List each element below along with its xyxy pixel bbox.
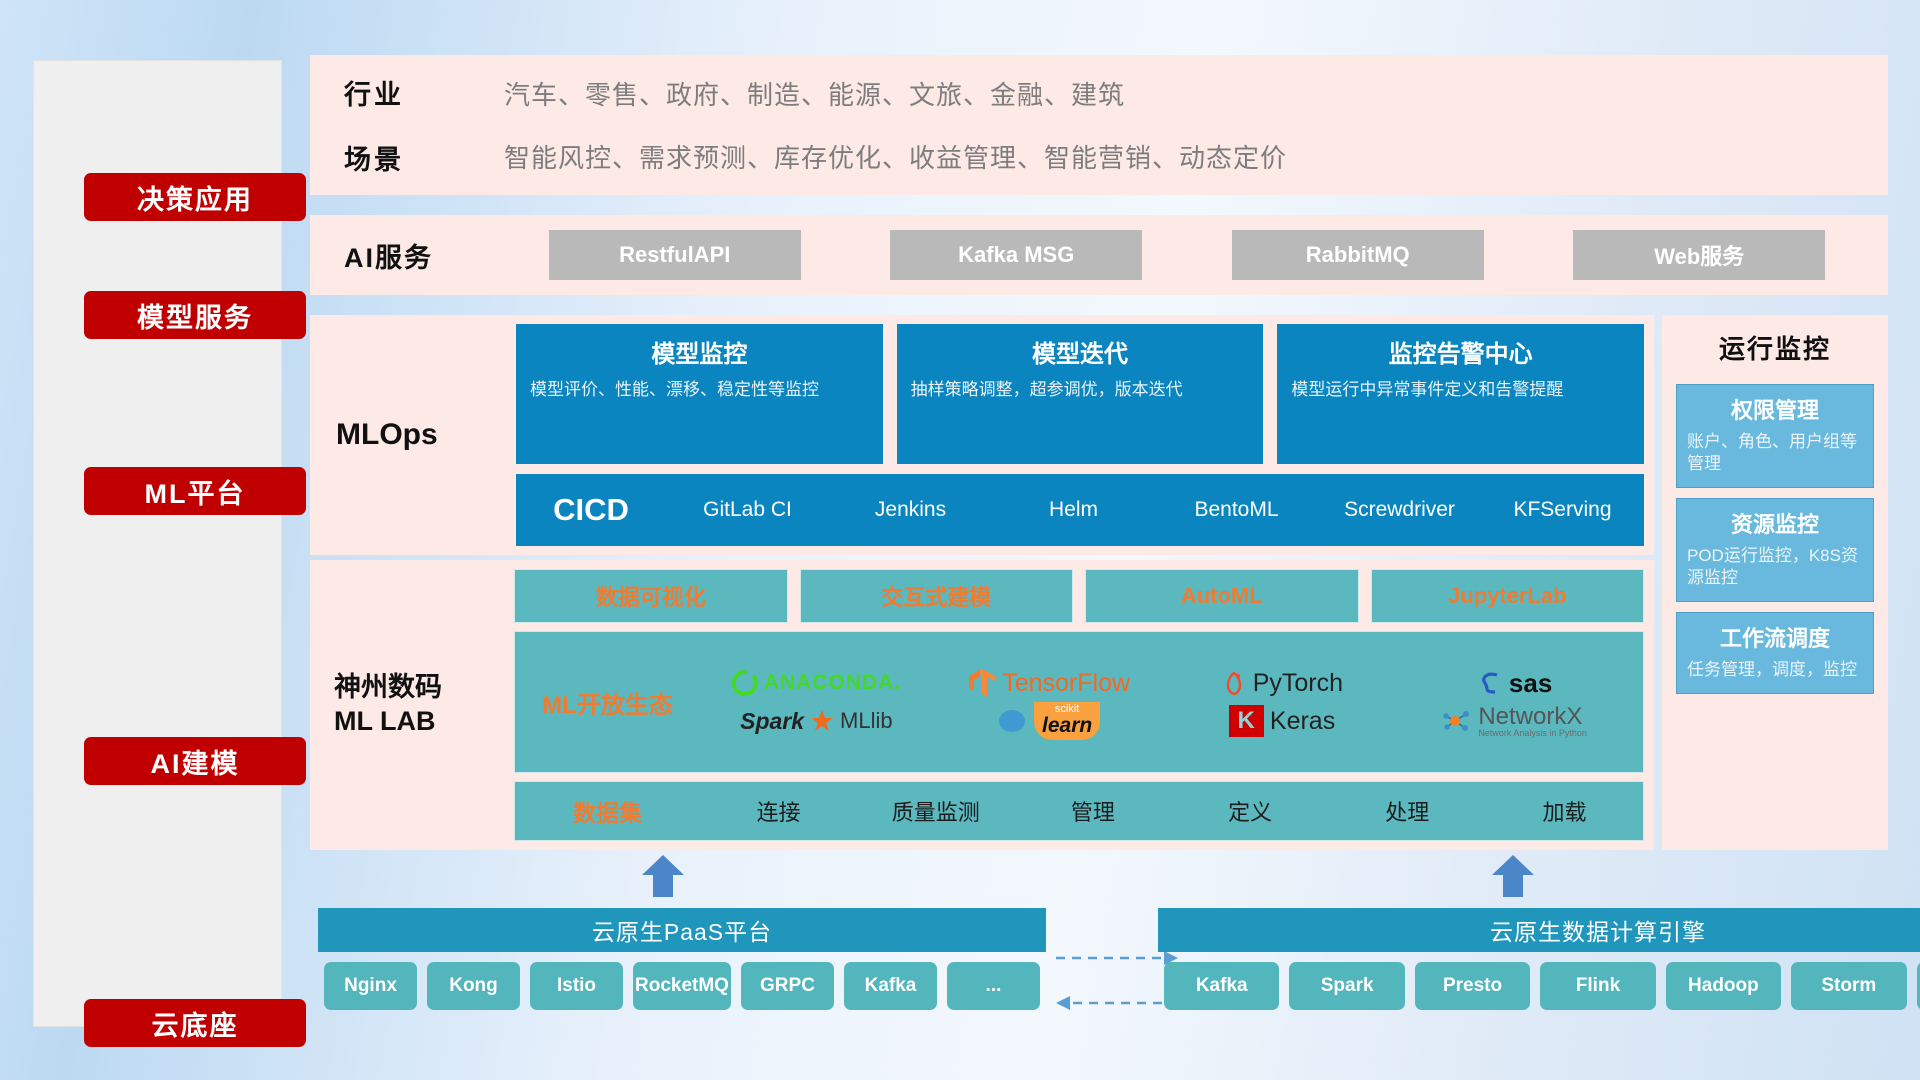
- scikit-learn-logo: scikit learn: [998, 702, 1100, 740]
- anaconda-label: ANACONDA.: [764, 671, 901, 695]
- cicd-tool-screwdriver[interactable]: Screwdriver: [1318, 498, 1481, 522]
- dataset-items: 连接 质量监测 管理 定义 处理 加载: [700, 795, 1643, 827]
- rail-tag-cloud-base[interactable]: 云底座: [84, 999, 306, 1047]
- cicd-tool-gitlab-ci[interactable]: GitLab CI: [666, 498, 829, 522]
- paas-chip-nginx[interactable]: Nginx: [324, 962, 417, 1010]
- sas-logo: sas: [1477, 668, 1552, 699]
- networkx-logo: NetworkX Network Analysis in Python: [1442, 704, 1587, 739]
- engine-chip-storm[interactable]: Storm: [1791, 962, 1906, 1010]
- paas-chip-rocketmq[interactable]: RocketMQ: [633, 962, 731, 1010]
- pytorch-label: PyTorch: [1253, 669, 1343, 698]
- paas-title: 云原生PaaS平台: [318, 908, 1046, 952]
- industry-label: 行业: [344, 73, 504, 112]
- rail-tag-label: 云底座: [152, 1004, 239, 1043]
- cicd-row: CICD GitLab CI Jenkins Helm BentoML Scre…: [516, 474, 1644, 546]
- card-desc: 模型运行中异常事件定义和告警提醒: [1291, 379, 1630, 402]
- sas-label: sas: [1509, 668, 1552, 699]
- learn-label: learn: [1042, 715, 1092, 736]
- tensorflow-label: TensorFlow: [1002, 669, 1130, 698]
- monitoring-card-workflow[interactable]: 工作流调度 任务管理，调度，监控: [1676, 612, 1874, 694]
- rail-tag-label: 模型服务: [137, 296, 253, 335]
- paas-chip-kong[interactable]: Kong: [427, 962, 520, 1010]
- rail-tag-label: ML平台: [145, 472, 246, 511]
- ml-lab-band: 神州数码 ML LAB 数据可视化 交互式建模 AutoML JupyterLa…: [310, 560, 1654, 850]
- card-desc: 任务管理，调度，监控: [1687, 659, 1863, 681]
- networkx-label: NetworkX: [1478, 704, 1587, 729]
- ml-lab-label-line1: 神州数码: [334, 671, 514, 705]
- networkx-graph-icon: [1442, 708, 1472, 734]
- ai-service-chip-web-service[interactable]: Web服务: [1573, 230, 1825, 280]
- scenario-value: 智能风控、需求预测、库存优化、收益管理、智能营销、动态定价: [504, 138, 1287, 175]
- cicd-label: CICD: [516, 492, 666, 528]
- engine-chip-spark[interactable]: Spark: [1289, 962, 1404, 1010]
- pytorch-icon: [1221, 669, 1247, 697]
- mlops-label: MLOps: [310, 418, 516, 452]
- industry-scenario-values: 汽车、零售、政府、制造、能源、文旅、金融、建筑 智能风控、需求预测、库存优化、收…: [504, 75, 1287, 175]
- scikit-learn-badge: scikit learn: [1034, 702, 1100, 740]
- ml-lab-label-line2: ML LAB: [334, 705, 514, 739]
- networkx-tagline: Network Analysis in Python: [1478, 729, 1587, 738]
- dataset-row: 数据集 连接 质量监测 管理 定义 处理 加载: [514, 781, 1644, 841]
- dataset-item-define[interactable]: 定义: [1172, 795, 1329, 827]
- data-engine-group: 云原生数据计算引擎 Kafka Spark Presto Flink Hadoo…: [1158, 908, 1920, 1018]
- card-desc: 账户、角色、用户组等管理: [1687, 431, 1863, 475]
- mlops-card-model-monitoring[interactable]: 模型监控 模型评价、性能、漂移、稳定性等监控: [516, 324, 883, 464]
- networkx-text: NetworkX Network Analysis in Python: [1478, 704, 1587, 739]
- paas-chips: Nginx Kong Istio RocketMQ GRPC Kafka ...: [318, 952, 1046, 1018]
- cicd-tool-kfserving[interactable]: KFServing: [1481, 498, 1644, 522]
- cicd-tools: GitLab CI Jenkins Helm BentoML Screwdriv…: [666, 498, 1644, 522]
- monitoring-panel: 运行监控 权限管理 账户、角色、用户组等管理 资源监控 POD运行监控，K8S资…: [1662, 315, 1888, 850]
- ml-ecosystem-logos: ANACONDA. TensorFlow: [700, 664, 1643, 740]
- keras-logo: K Keras: [1229, 705, 1336, 737]
- ai-service-chip-restfulapi[interactable]: RestfulAPI: [549, 230, 801, 280]
- monitoring-card-permissions[interactable]: 权限管理 账户、角色、用户组等管理: [1676, 384, 1874, 488]
- anaconda-icon: [732, 670, 758, 696]
- layer-rail: 决策应用 模型服务 ML平台 AI建模 云底座: [33, 60, 282, 1027]
- chip-data-visualization[interactable]: 数据可视化: [514, 569, 788, 623]
- cicd-tool-helm[interactable]: Helm: [992, 498, 1155, 522]
- ml-ecosystem-panel: ML开放生态 ANACONDA. TensorFlow: [514, 631, 1644, 773]
- ml-lab-label: 神州数码 ML LAB: [310, 671, 514, 739]
- spark-star-icon: [810, 709, 834, 733]
- dataset-label: 数据集: [515, 794, 700, 828]
- tensorflow-logo: TensorFlow: [968, 668, 1130, 698]
- mlops-band: MLOps 模型监控 模型评价、性能、漂移、稳定性等监控 模型迭代 抽样策略调整…: [310, 315, 1654, 555]
- dataset-item-connect[interactable]: 连接: [700, 795, 857, 827]
- industry-scenario-labels: 行业 场景: [310, 73, 504, 177]
- rail-tag-decision-app[interactable]: 决策应用: [84, 173, 306, 221]
- rail-tag-ml-platform[interactable]: ML平台: [84, 467, 306, 515]
- chip-interactive-modeling[interactable]: 交互式建模: [800, 569, 1074, 623]
- paas-chip-kafka[interactable]: Kafka: [844, 962, 937, 1010]
- paas-chip-grpc[interactable]: GRPC: [741, 962, 834, 1010]
- ml-lab-content: 数据可视化 交互式建模 AutoML JupyterLab ML开放生态 ANA…: [514, 569, 1654, 841]
- mlops-card-row: 模型监控 模型评价、性能、漂移、稳定性等监控 模型迭代 抽样策略调整，超参调优，…: [516, 324, 1644, 464]
- chip-automl[interactable]: AutoML: [1085, 569, 1359, 623]
- spark-mllib-logo: Spark MLlib: [740, 708, 893, 735]
- ai-service-band: AI服务 RestfulAPI Kafka MSG RabbitMQ Web服务: [310, 215, 1888, 295]
- paas-chip-more[interactable]: ...: [947, 962, 1040, 1010]
- mllib-label: MLlib: [840, 708, 893, 734]
- rail-tag-label: AI建模: [151, 742, 240, 781]
- paas-chip-istio[interactable]: Istio: [530, 962, 623, 1010]
- monitoring-card-resource[interactable]: 资源监控 POD运行监控，K8S资源监控: [1676, 498, 1874, 602]
- spark-label: Spark: [740, 708, 804, 735]
- paas-group: 云原生PaaS平台 Nginx Kong Istio RocketMQ GRPC…: [318, 908, 1046, 1018]
- engine-chip-flink[interactable]: Flink: [1540, 962, 1655, 1010]
- sas-icon: [1477, 670, 1503, 696]
- dataset-item-process[interactable]: 处理: [1329, 795, 1486, 827]
- monitoring-title: 运行监控: [1662, 315, 1888, 374]
- keras-label: Keras: [1270, 707, 1335, 736]
- ai-service-label: AI服务: [310, 236, 504, 275]
- rail-tag-ai-modeling[interactable]: AI建模: [84, 737, 306, 785]
- engine-chip-presto[interactable]: Presto: [1415, 962, 1530, 1010]
- cicd-tool-jenkins[interactable]: Jenkins: [829, 498, 992, 522]
- cicd-tool-bentoml[interactable]: BentoML: [1155, 498, 1318, 522]
- card-desc: 模型评价、性能、漂移、稳定性等监控: [530, 379, 869, 402]
- cloud-foundation: 云原生PaaS平台 Nginx Kong Istio RocketMQ GRPC…: [310, 890, 1888, 1040]
- engine-chip-hadoop[interactable]: Hadoop: [1666, 962, 1781, 1010]
- chip-jupyterlab[interactable]: JupyterLab: [1371, 569, 1645, 623]
- industry-value: 汽车、零售、政府、制造、能源、文旅、金融、建筑: [504, 75, 1287, 112]
- card-title: 资源监控: [1687, 507, 1863, 539]
- ml-lab-top-chips: 数据可视化 交互式建模 AutoML JupyterLab: [514, 569, 1644, 623]
- card-title: 模型监控: [530, 334, 869, 369]
- ml-ecosystem-label: ML开放生态: [515, 685, 700, 720]
- card-desc: POD运行监控，K8S资源监控: [1687, 545, 1863, 589]
- card-title: 模型迭代: [911, 334, 1250, 369]
- scenario-label: 场景: [344, 138, 504, 177]
- card-title: 工作流调度: [1687, 621, 1863, 653]
- card-title: 权限管理: [1687, 393, 1863, 425]
- diagram-canvas: 决策应用 模型服务 ML平台 AI建模 云底座 行业 场景 汽车、零售、政府、制…: [0, 0, 1920, 1080]
- rail-tag-label: 决策应用: [137, 178, 253, 217]
- rail-tag-model-service[interactable]: 模型服务: [84, 291, 306, 339]
- mlops-card-alert-center[interactable]: 监控告警中心 模型运行中异常事件定义和告警提醒: [1277, 324, 1644, 464]
- scikit-blob-icon: [998, 708, 1028, 734]
- dataset-item-quality-monitor[interactable]: 质量监测: [857, 795, 1014, 827]
- dataset-item-load[interactable]: 加载: [1486, 795, 1643, 827]
- mlops-card-model-iteration[interactable]: 模型迭代 抽样策略调整，超参调优，版本迭代: [897, 324, 1264, 464]
- data-engine-title: 云原生数据计算引擎: [1158, 908, 1920, 952]
- engine-chip-kafka[interactable]: Kafka: [1164, 962, 1279, 1010]
- mlops-content: 模型监控 模型评价、性能、漂移、稳定性等监控 模型迭代 抽样策略调整，超参调优，…: [516, 324, 1654, 546]
- keras-mark: K: [1229, 705, 1264, 737]
- pytorch-logo: PyTorch: [1221, 669, 1343, 698]
- dataset-item-manage[interactable]: 管理: [1014, 795, 1171, 827]
- ai-service-items: RestfulAPI Kafka MSG RabbitMQ Web服务: [504, 230, 1888, 280]
- ai-service-chip-rabbitmq[interactable]: RabbitMQ: [1232, 230, 1484, 280]
- engine-chip-more[interactable]: ...: [1917, 962, 1920, 1010]
- data-engine-chips: Kafka Spark Presto Flink Hadoop Storm ..…: [1158, 952, 1920, 1018]
- ai-service-chip-kafka-msg[interactable]: Kafka MSG: [890, 230, 1142, 280]
- industry-scenario-band: 行业 场景 汽车、零售、政府、制造、能源、文旅、金融、建筑 智能风控、需求预测、…: [310, 55, 1888, 195]
- card-title: 监控告警中心: [1291, 334, 1630, 369]
- card-desc: 抽样策略调整，超参调优，版本迭代: [911, 379, 1250, 402]
- anaconda-logo: ANACONDA.: [732, 670, 901, 696]
- tensorflow-icon: [968, 668, 996, 698]
